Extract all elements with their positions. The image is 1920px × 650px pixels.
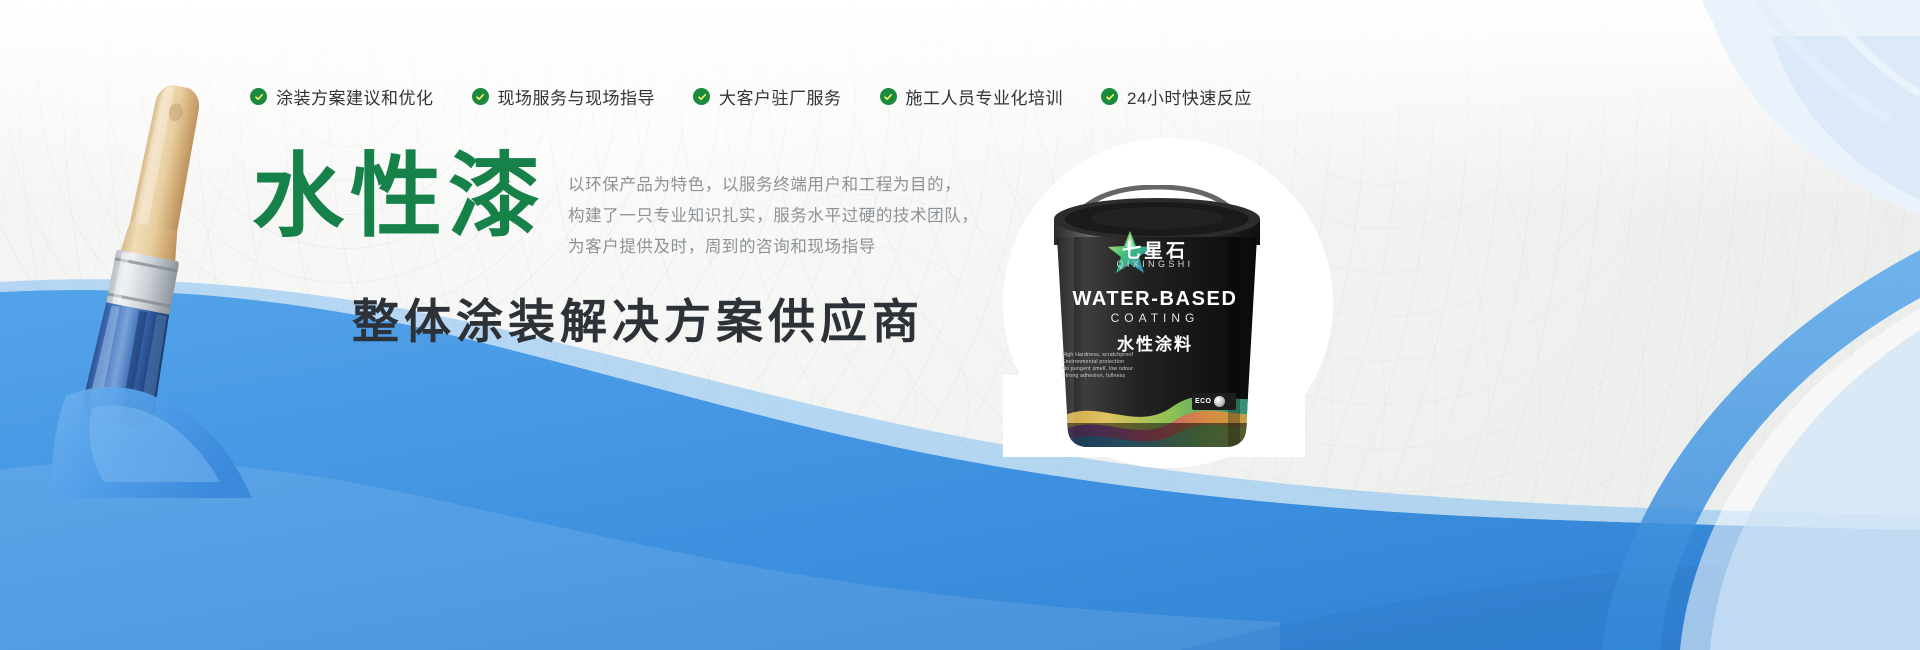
product-spec-line: Strong adhesion, fullness xyxy=(1062,373,1167,380)
product-name-en-line2: COATING xyxy=(1050,311,1260,325)
feature-list: 涂装方案建议和优化 现场服务与现场指导 大客户驻厂服务 施工人员专业化培训 24… xyxy=(250,84,1252,109)
page-title: 水性漆 xyxy=(252,150,546,244)
product-spec-list: High Hardness, scratchproof Environmenta… xyxy=(1062,352,1167,380)
description-line: 构建了一只专业知识扎实，服务水平过硬的技术团队， xyxy=(568,201,978,232)
description-line: 为客户提供及时，周到的咨询和现场指导 xyxy=(568,232,978,263)
feature-label: 24小时快速反应 xyxy=(1127,84,1252,109)
feature-label: 大客户驻厂服务 xyxy=(719,84,842,109)
check-circle-icon xyxy=(1101,88,1118,105)
product-name-en-line1: WATER-BASED xyxy=(1050,288,1260,311)
eco-badge: ECO xyxy=(1192,393,1236,410)
product-brand-en: QIXINGSHI xyxy=(1075,259,1235,269)
product-spec-line: High Hardness, scratchproof xyxy=(1062,352,1167,359)
eco-label: ECO xyxy=(1195,398,1211,405)
check-circle-icon xyxy=(250,88,267,105)
feature-item[interactable]: 涂装方案建议和优化 xyxy=(250,84,434,109)
feature-item[interactable]: 施工人员专业化培训 xyxy=(880,84,1064,109)
paint-brush-illustration xyxy=(48,78,268,498)
check-circle-icon xyxy=(693,88,710,105)
headline-block: 水性漆 以环保产品为特色，以服务终端用户和工程为目的， 构建了一只专业知识扎实，… xyxy=(252,150,978,263)
feature-label: 涂装方案建议和优化 xyxy=(276,84,434,109)
feature-item[interactable]: 大客户驻厂服务 xyxy=(693,84,842,109)
product-spec-line: Environmental protection xyxy=(1062,359,1167,366)
product-spec-line: No pungent smell, low odour xyxy=(1062,366,1167,373)
eco-dot-icon xyxy=(1214,396,1225,407)
check-circle-icon xyxy=(880,88,897,105)
page-subtitle: 整体涂装解决方案供应商 xyxy=(352,283,924,352)
description-line: 以环保产品为特色，以服务终端用户和工程为目的， xyxy=(568,170,978,201)
feature-label: 现场服务与现场指导 xyxy=(498,84,656,109)
promotional-banner: 涂装方案建议和优化 现场服务与现场指导 大客户驻厂服务 施工人员专业化培训 24… xyxy=(0,0,1920,650)
check-circle-icon xyxy=(472,88,489,105)
feature-item[interactable]: 现场服务与现场指导 xyxy=(472,84,656,109)
feature-item[interactable]: 24小时快速反应 xyxy=(1101,84,1252,109)
feature-label: 施工人员专业化培训 xyxy=(906,84,1064,109)
description-text: 以环保产品为特色，以服务终端用户和工程为目的， 构建了一只专业知识扎实，服务水平… xyxy=(568,170,978,263)
